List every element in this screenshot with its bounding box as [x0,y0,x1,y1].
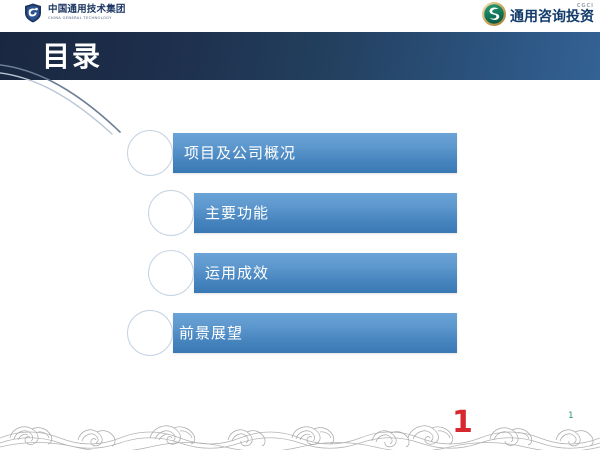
cgci-swirl-logo-icon [481,1,507,27]
agenda-item-4-label: 前景展望 [179,322,243,343]
logo-strip: 中国通用技术集团 CHINA GENERAL TECHNOLOGY [0,0,600,30]
page-number-small: 1 [568,412,574,421]
chinese-wave-pattern-icon [0,408,600,450]
brand-left-text: 中国通用技术集团 CHINA GENERAL TECHNOLOGY [48,5,126,20]
brand-left-name-en: CHINA GENERAL TECHNOLOGY [48,17,126,21]
bullet-circle-icon-1 [127,130,173,176]
slide-title-band: 目录 [0,32,600,80]
china-general-technology-logo-icon [22,2,44,24]
agenda-item-2[interactable]: 主要功能 [148,190,457,236]
agenda-item-2-label: 主要功能 [205,202,269,223]
agenda-item-4[interactable]: 前景展望 [127,310,457,356]
agenda-item-3[interactable]: 运用成效 [148,250,457,296]
bullet-circle-icon-3 [148,250,194,296]
brand-left-name-cn: 中国通用技术集团 [48,5,126,15]
brand-right: CGCI 通用咨询投资 [481,1,594,27]
brand-right-name-cn: 通用咨询投资 [510,10,594,24]
agenda-item-3-label: 运用成效 [205,262,269,283]
page-number-large: 1 [452,408,473,438]
agenda-item-1-label: 项目及公司概况 [184,142,296,163]
presentation-slide: 中国通用技术集团 CHINA GENERAL TECHNOLOGY [0,0,600,450]
brand-left: 中国通用技术集团 CHINA GENERAL TECHNOLOGY [22,2,126,24]
bullet-circle-icon-4 [127,310,173,356]
agenda-item-1[interactable]: 项目及公司概况 [127,130,457,176]
agenda-list: 项目及公司概况 主要功能 运用成效 前景展望 [0,130,600,370]
page-title: 目录 [42,35,102,75]
bullet-circle-icon-2 [148,190,194,236]
brand-right-text: CGCI 通用咨询投资 [510,4,594,24]
